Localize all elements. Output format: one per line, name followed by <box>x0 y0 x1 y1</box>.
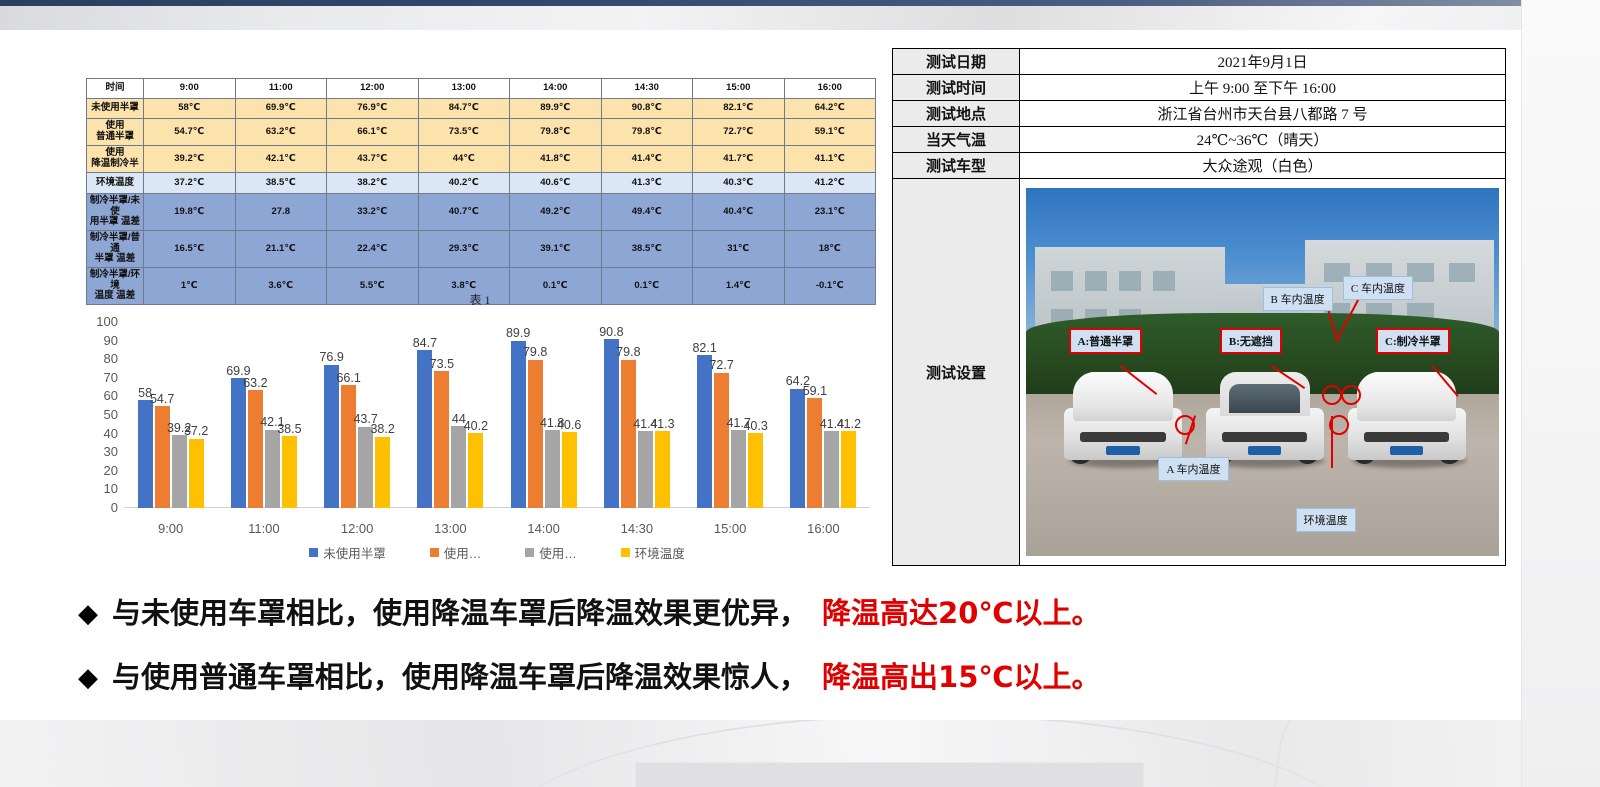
table-cell: 79.8℃ <box>601 119 693 146</box>
photo-car-c <box>1348 376 1466 461</box>
bar[interactable]: 63.2 <box>248 390 263 508</box>
legend-swatch-icon <box>430 548 439 557</box>
table-cell: 59.1℃ <box>784 119 876 146</box>
y-tick-label: 10 <box>86 481 118 496</box>
legend-item[interactable]: 环境温度 <box>621 543 685 562</box>
bar-group: 64.259.141.441.2 <box>777 322 870 508</box>
callout-c-inside: C 车内温度 <box>1343 276 1413 300</box>
bar-value-label: 59.1 <box>803 385 827 399</box>
bar[interactable]: 66.1 <box>341 385 356 508</box>
table-cell: 3.6℃ <box>235 268 327 305</box>
row-label: 使用降温制冷半 <box>87 146 144 173</box>
bar-group: 82.172.741.740.3 <box>684 322 777 508</box>
legend-swatch-icon <box>309 548 318 557</box>
table-cell: 42.1℃ <box>235 146 327 173</box>
legend-swatch-icon <box>621 548 630 557</box>
bar[interactable]: 82.1 <box>697 355 712 508</box>
table-cell: 12:00 <box>327 79 419 99</box>
bar-value-label: 37.2 <box>184 425 208 439</box>
bar[interactable]: 39.2 <box>172 435 187 508</box>
bullet-text-2: 与使用普通车罩相比，使用降温车罩后降温效果惊人， <box>112 662 808 694</box>
bar-value-label: 90.8 <box>599 326 623 340</box>
bar-value-label: 41.2 <box>837 418 861 432</box>
table-cell: 76.9℃ <box>327 99 419 119</box>
bar-value-label: 76.9 <box>319 351 343 365</box>
bar[interactable]: 38.5 <box>282 436 297 508</box>
chart-x-tick-labels: 9:0011:0012:0013:0014:0014:3015:0016:00 <box>124 521 870 536</box>
row-label: 环境温度 <box>87 173 144 194</box>
bar[interactable]: 43.7 <box>358 427 373 508</box>
row-label: 制冷半罩/未使用半罩 温差 <box>87 194 144 231</box>
table-cell: 19.8℃ <box>144 194 236 231</box>
table-cell: 27.8 <box>235 194 327 231</box>
table-row: 环境温度37.2℃38.5℃38.2℃40.2℃40.6℃41.3℃40.3℃4… <box>87 173 876 194</box>
table-cell: 18℃ <box>784 231 876 268</box>
bar[interactable]: 41.2 <box>841 431 856 508</box>
bar[interactable]: 58 <box>138 400 153 508</box>
bar[interactable]: 44 <box>451 426 466 508</box>
bar[interactable]: 38.2 <box>375 437 390 508</box>
table-cell: 15:00 <box>693 79 785 99</box>
setup-photo-cell: A:普通半罩 B:无遮挡 C:制冷半罩 A 车内温度 B 车内温度 C 车内温度… <box>1020 179 1506 566</box>
bar[interactable]: 64.2 <box>790 389 805 508</box>
table-cell: 89.9℃ <box>510 99 602 119</box>
bar[interactable]: 69.9 <box>231 378 246 508</box>
table-row: 制冷半罩/未使用半罩 温差19.8℃27.833.2℃40.7℃49.2℃49.… <box>87 194 876 231</box>
bullet-item-2: ◆ 与使用普通车罩相比，使用降温车罩后降温效果惊人， 降温高出15℃以上。 <box>78 662 1101 694</box>
table-cell: 39.2℃ <box>144 146 236 173</box>
callout-a-inside: A 车内温度 <box>1158 457 1228 481</box>
table-cell: 43.7℃ <box>327 146 419 173</box>
table-cell: 16:00 <box>784 79 876 99</box>
table-row: 未使用半罩58℃69.9℃76.9℃84.7℃89.9℃90.8℃82.1℃64… <box>87 99 876 119</box>
legend-item[interactable]: 未使用半罩 <box>309 543 386 562</box>
info-value: 24℃~36℃（晴天） <box>1020 127 1506 153</box>
bar[interactable]: 37.2 <box>189 439 204 508</box>
table-cell: 41.4℃ <box>601 146 693 173</box>
table-cell: 54.7℃ <box>144 119 236 146</box>
bar[interactable]: 84.7 <box>417 350 432 508</box>
table-cell: 82.1℃ <box>693 99 785 119</box>
bar[interactable]: 41.7 <box>731 430 746 508</box>
table-cell: 14:30 <box>601 79 693 99</box>
table-cell: 90.8℃ <box>601 99 693 119</box>
bar-value-label: 40.3 <box>743 420 767 434</box>
chart-legend: 未使用半罩使用…使用…环境温度 <box>124 543 870 562</box>
table-cell: 23.1℃ <box>784 194 876 231</box>
bar-value-label: 41.3 <box>650 418 674 432</box>
table-cell: 41.7℃ <box>693 146 785 173</box>
bar-group: 84.773.54440.2 <box>404 322 497 508</box>
table-cell: 40.2℃ <box>418 173 510 194</box>
bar-value-label: 84.7 <box>413 337 437 351</box>
bar[interactable]: 72.7 <box>714 373 729 508</box>
table-cell: 0.1℃ <box>601 268 693 305</box>
photo-car-a <box>1064 376 1182 461</box>
sensor-ring-c <box>1341 385 1361 405</box>
bar[interactable]: 40.6 <box>562 432 577 508</box>
table-cell: 38.5℃ <box>235 173 327 194</box>
bar[interactable]: 41.4 <box>824 431 839 508</box>
y-tick-label: 30 <box>86 444 118 459</box>
table-cell: 41.2℃ <box>784 173 876 194</box>
info-row: 测试地点浙江省台州市天台县八都路 7 号 <box>893 101 1506 127</box>
bar-group: 69.963.242.138.5 <box>217 322 310 508</box>
legend-item[interactable]: 使用… <box>525 543 577 562</box>
info-key: 当天气温 <box>893 127 1020 153</box>
test-info-table: 测试日期2021年9月1日测试时间上午 9:00 至下午 16:00测试地点浙江… <box>892 48 1506 566</box>
table-cell: 22.4℃ <box>327 231 419 268</box>
y-tick-label: 100 <box>86 314 118 329</box>
callout-b-none: B:无遮挡 <box>1220 328 1282 354</box>
y-tick-label: 70 <box>86 370 118 385</box>
table-caption: 表 1 <box>420 291 540 308</box>
setup-row: 测试设置 <box>893 179 1506 566</box>
bar-value-label: 79.8 <box>616 346 640 360</box>
bar[interactable]: 42.1 <box>265 430 280 508</box>
callout-b-inside: B 车内温度 <box>1263 287 1333 311</box>
sensor-ring-b <box>1322 385 1342 405</box>
bar[interactable]: 79.8 <box>528 360 543 508</box>
table-cell: 41.1℃ <box>784 146 876 173</box>
setup-key: 测试设置 <box>893 179 1020 566</box>
table-cell: 41.3℃ <box>601 173 693 194</box>
callout-ambient: 环境温度 <box>1296 508 1356 532</box>
table-cell: 58℃ <box>144 99 236 119</box>
test-setup-photo: A:普通半罩 B:无遮挡 C:制冷半罩 A 车内温度 B 车内温度 C 车内温度… <box>1026 188 1499 556</box>
content-card-right: 测试日期2021年9月1日测试时间上午 9:00 至下午 16:00测试地点浙江… <box>886 40 1506 540</box>
info-value: 大众途观（白色） <box>1020 153 1506 179</box>
table-row: 使用降温制冷半39.2℃42.1℃43.7℃44℃41.8℃41.4℃41.7℃… <box>87 146 876 173</box>
x-tick-label: 16:00 <box>777 521 870 536</box>
bar-value-label: 82.1 <box>692 342 716 356</box>
info-key: 测试时间 <box>893 75 1020 101</box>
bar-value-label: 89.9 <box>506 327 530 341</box>
table-cell: 72.7℃ <box>693 119 785 146</box>
info-key: 测试日期 <box>893 49 1020 75</box>
info-value: 浙江省台州市天台县八都路 7 号 <box>1020 101 1506 127</box>
table-cell: 9:00 <box>144 79 236 99</box>
legend-swatch-icon <box>525 548 534 557</box>
table-cell: 33.2℃ <box>327 194 419 231</box>
table-cell: 40.6℃ <box>510 173 602 194</box>
info-row: 当天气温24℃~36℃（晴天） <box>893 127 1506 153</box>
bar[interactable]: 73.5 <box>434 371 449 508</box>
y-tick-label: 60 <box>86 388 118 403</box>
legend-label: 未使用半罩 <box>323 543 386 562</box>
slide-canvas: 时间9:0011:0012:0013:0014:0014:3015:0016:0… <box>0 0 1600 787</box>
legend-label: 环境温度 <box>635 543 685 562</box>
photo-car-b <box>1206 376 1324 461</box>
table-cell: 40.3℃ <box>693 173 785 194</box>
y-tick-label: 20 <box>86 463 118 478</box>
slide-right-margin <box>1521 0 1600 787</box>
x-tick-label: 14:30 <box>590 521 683 536</box>
bullet-highlight-1: 降温高达20℃以上。 <box>822 598 1100 630</box>
table-cell: 40.7℃ <box>418 194 510 231</box>
callout-c-cool: C:制冷半罩 <box>1376 328 1450 354</box>
bar[interactable]: 41.3 <box>655 431 670 508</box>
chart-plot-area: 5854.739.237.269.963.242.138.576.966.143… <box>124 322 870 508</box>
info-key: 测试地点 <box>893 101 1020 127</box>
info-row: 测试车型大众途观（白色） <box>893 153 1506 179</box>
table-cell: 41.8℃ <box>510 146 602 173</box>
table-cell: 37.2℃ <box>144 173 236 194</box>
bar-value-label: 66.1 <box>336 372 360 386</box>
info-row: 测试时间上午 9:00 至下午 16:00 <box>893 75 1506 101</box>
table-cell: 38.5℃ <box>601 231 693 268</box>
bar-group: 5854.739.237.2 <box>124 322 217 508</box>
table-cell: 1℃ <box>144 268 236 305</box>
x-tick-label: 15:00 <box>684 521 777 536</box>
info-row: 测试日期2021年9月1日 <box>893 49 1506 75</box>
info-key: 测试车型 <box>893 153 1020 179</box>
bar-group: 90.879.841.441.3 <box>590 322 683 508</box>
x-tick-label: 13:00 <box>404 521 497 536</box>
table-cell: 66.1℃ <box>327 119 419 146</box>
y-tick-label: 40 <box>86 426 118 441</box>
row-label: 未使用半罩 <box>87 99 144 119</box>
bar-group: 89.979.841.840.6 <box>497 322 590 508</box>
y-tick-label: 50 <box>86 407 118 422</box>
bar[interactable]: 89.9 <box>511 341 526 508</box>
bar-value-label: 54.7 <box>150 393 174 407</box>
table-row: 制冷半罩/普通半罩 温差16.5℃21.1℃22.4℃29.3℃39.1℃38.… <box>87 231 876 268</box>
table-cell: 64.2℃ <box>784 99 876 119</box>
table-cell: 11:00 <box>235 79 327 99</box>
bar[interactable]: 40.3 <box>748 433 763 508</box>
y-tick-label: 90 <box>86 333 118 348</box>
bar[interactable]: 41.4 <box>638 431 653 508</box>
content-card-bottom: ◆ 与未使用车罩相比，使用降温车罩后降温效果更优异， 降温高达20℃以上。 ◆ … <box>0 570 1521 720</box>
info-value: 上午 9:00 至下午 16:00 <box>1020 75 1506 101</box>
table-cell: 69.9℃ <box>235 99 327 119</box>
bar[interactable]: 59.1 <box>807 398 822 508</box>
table-cell: 31℃ <box>693 231 785 268</box>
bar[interactable]: 40.2 <box>468 433 483 508</box>
y-tick-label: 80 <box>86 351 118 366</box>
bullet-highlight-2: 降温高出15℃以上。 <box>822 662 1100 694</box>
table-cell: 39.1℃ <box>510 231 602 268</box>
bar-value-label: 72.7 <box>709 359 733 373</box>
bar-value-label: 38.2 <box>370 423 394 437</box>
photo-car-a-cover <box>1073 372 1172 421</box>
table-cell: 13:00 <box>418 79 510 99</box>
bar-value-label: 79.8 <box>523 346 547 360</box>
info-value: 2021年9月1日 <box>1020 49 1506 75</box>
measurement-table: 时间9:0011:0012:0013:0014:0014:3015:0016:0… <box>86 78 876 305</box>
table-cell: 5.5℃ <box>327 268 419 305</box>
y-tick-label: 0 <box>86 500 118 515</box>
bar-value-label: 40.6 <box>557 419 581 433</box>
diamond-bullet-icon: ◆ <box>78 665 98 691</box>
row-label: 使用普通半罩 <box>87 119 144 146</box>
x-tick-label: 14:00 <box>497 521 590 536</box>
table-cell: 84.7℃ <box>418 99 510 119</box>
table-cell: -0.1℃ <box>784 268 876 305</box>
bar-value-label: 63.2 <box>243 377 267 391</box>
bar-value-label: 73.5 <box>430 358 454 372</box>
bar[interactable]: 76.9 <box>324 365 339 508</box>
table-cell: 73.5℃ <box>418 119 510 146</box>
table-cell: 29.3℃ <box>418 231 510 268</box>
table-cell: 1.4℃ <box>693 268 785 305</box>
legend-label: 使用… <box>539 543 577 562</box>
bar[interactable]: 41.8 <box>545 430 560 508</box>
legend-item[interactable]: 使用… <box>430 543 482 562</box>
table-cell: 21.1℃ <box>235 231 327 268</box>
row-label: 时间 <box>87 79 144 99</box>
x-tick-label: 11:00 <box>217 521 310 536</box>
table-cell: 63.2℃ <box>235 119 327 146</box>
table-cell: 40.4℃ <box>693 194 785 231</box>
x-tick-label: 12:00 <box>311 521 404 536</box>
table-cell: 44℃ <box>418 146 510 173</box>
diamond-bullet-icon: ◆ <box>78 601 98 627</box>
x-tick-label: 9:00 <box>124 521 217 536</box>
table-cell: 14:00 <box>510 79 602 99</box>
table-cell: 79.8℃ <box>510 119 602 146</box>
table-cell: 16.5℃ <box>144 231 236 268</box>
chart-bar-groups: 5854.739.237.269.963.242.138.576.966.143… <box>124 322 870 508</box>
bullet-text-1: 与未使用车罩相比，使用降温车罩后降温效果更优异， <box>112 598 808 630</box>
table-row: 时间9:0011:0012:0013:0014:0014:3015:0016:0… <box>87 79 876 99</box>
callout-a-cover: A:普通半罩 <box>1069 328 1143 354</box>
row-label: 制冷半罩/环境温度 温差 <box>87 268 144 305</box>
temperature-bar-chart: 0102030405060708090100 5854.739.237.269.… <box>86 316 876 564</box>
table-cell: 49.2℃ <box>510 194 602 231</box>
bar-value-label: 38.5 <box>277 423 301 437</box>
bar[interactable]: 79.8 <box>621 360 636 508</box>
legend-label: 使用… <box>444 543 482 562</box>
photo-car-c-cover <box>1357 372 1456 421</box>
table-cell: 38.2℃ <box>327 173 419 194</box>
table-row: 使用普通半罩54.7℃63.2℃66.1℃73.5℃79.8℃79.8℃72.7… <box>87 119 876 146</box>
table-cell: 49.4℃ <box>601 194 693 231</box>
bullet-item-1: ◆ 与未使用车罩相比，使用降温车罩后降温效果更优异， 降温高达20℃以上。 <box>78 598 1101 630</box>
row-label: 制冷半罩/普通半罩 温差 <box>87 231 144 268</box>
bar[interactable]: 90.8 <box>604 339 619 508</box>
bar-group: 76.966.143.738.2 <box>311 322 404 508</box>
bar-value-label: 40.2 <box>464 420 488 434</box>
